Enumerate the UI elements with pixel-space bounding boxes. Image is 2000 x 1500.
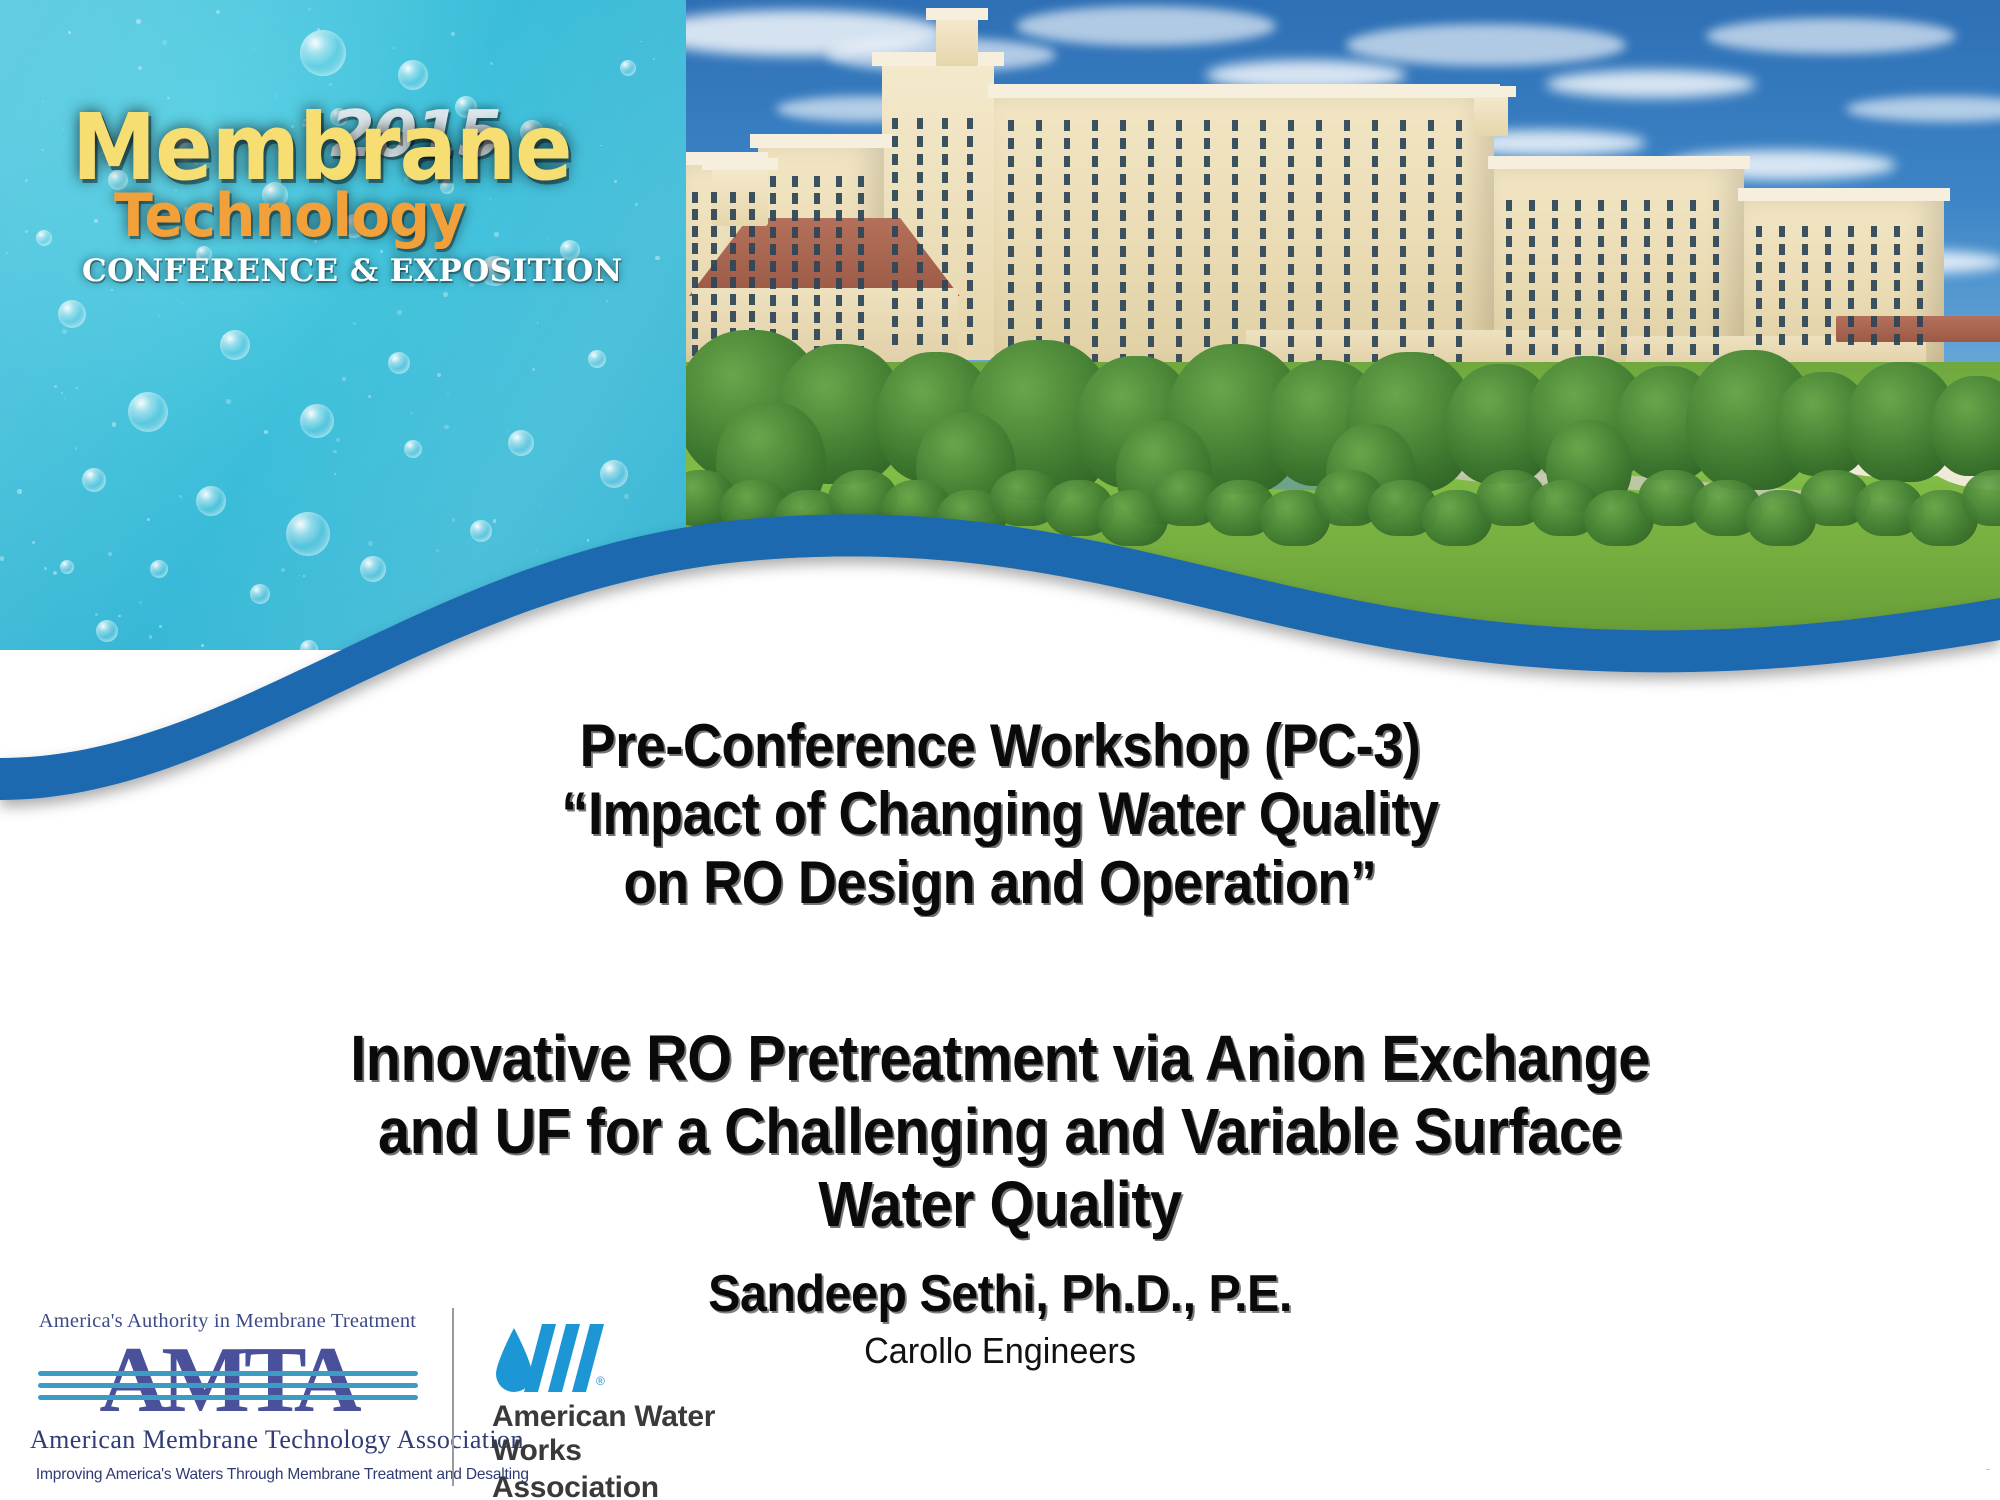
workshop-line-3: on RO Design and Operation”	[100, 849, 1900, 917]
workshop-line-2: “Impact of Changing Water Quality	[100, 780, 1900, 848]
amta-wave-2	[38, 1383, 418, 1388]
logo-technology-text: Technology	[114, 186, 644, 246]
presentation-title-line-2: and UF for a Challenging and Variable Su…	[100, 1095, 1900, 1168]
awwa-registered-mark: ®	[596, 1374, 605, 1388]
logo-membrane-text: Membrane	[72, 104, 624, 192]
logo-conference-exposition-text: CONFERENCE & EXPOSITION	[82, 256, 672, 287]
amta-wave-3	[38, 1395, 418, 1400]
amta-wave-1	[38, 1371, 418, 1376]
amta-mark: AMTA	[30, 1335, 425, 1423]
awwa-mark: ®	[492, 1322, 812, 1396]
amta-tagline-bottom: Improving America's Waters Through Membr…	[36, 1466, 419, 1484]
workshop-title-block: Pre-Conference Workshop (PC-3) “Impact o…	[0, 712, 2000, 917]
logo-divider	[452, 1308, 454, 1486]
conference-logo: 2015 Membrane Technology CONFERENCE & EX…	[72, 104, 672, 287]
awwa-name-line-2: Association	[492, 1471, 812, 1500]
hotel-photograph	[686, 0, 2000, 650]
amta-acronym: AMTA	[30, 1333, 425, 1427]
presentation-title-line-1: Innovative RO Pretreatment via Anion Exc…	[100, 1022, 1900, 1095]
amta-logo: America's Authority in Membrane Treatmen…	[30, 1310, 425, 1484]
awwa-logo: ® American Water Works Association Dedic…	[492, 1322, 812, 1500]
presentation-title-line-3: Water Quality	[100, 1168, 1900, 1241]
workshop-line-1: Pre-Conference Workshop (PC-3)	[100, 712, 1900, 780]
slide-header-banner: 2015 Membrane Technology CONFERENCE & EX…	[0, 0, 2000, 650]
awwa-name-line-1: American Water Works	[492, 1400, 812, 1467]
presentation-title-block: Innovative RO Pretreatment via Anion Exc…	[0, 1022, 2000, 1241]
slide-number: -	[1986, 1461, 1990, 1476]
presentation-slide: 2015 Membrane Technology CONFERENCE & EX…	[0, 0, 2000, 1500]
